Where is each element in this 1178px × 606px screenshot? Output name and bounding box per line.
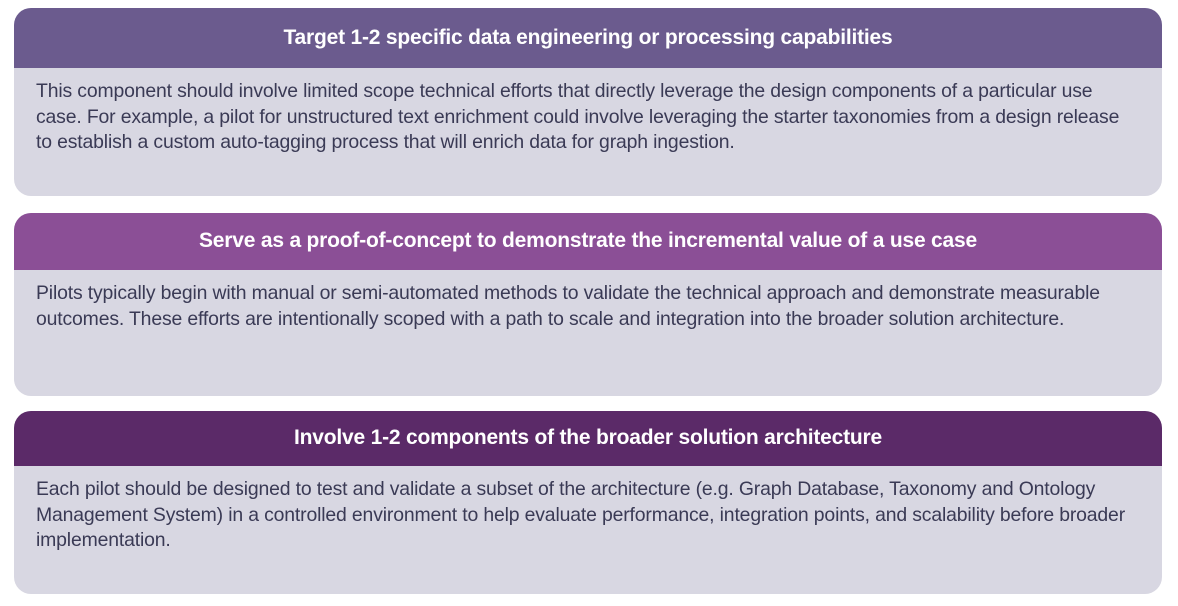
card-header-banner: Serve as a proof-of-concept to demonstra… — [14, 213, 1162, 270]
card-title: Involve 1-2 components of the broader so… — [294, 426, 882, 450]
card-body-text: Each pilot should be designed to test an… — [36, 477, 1140, 554]
pilot-criteria-card: Target 1-2 specific data engineering or … — [14, 8, 1162, 196]
card-title: Target 1-2 specific data engineering or … — [283, 26, 892, 50]
card-header-banner: Target 1-2 specific data engineering or … — [14, 8, 1162, 68]
card-body-text: This component should involve limited sc… — [36, 79, 1140, 156]
card-body: This component should involve limited sc… — [14, 68, 1162, 196]
pilot-criteria-card: Serve as a proof-of-concept to demonstra… — [14, 213, 1162, 396]
pilot-criteria-card: Involve 1-2 components of the broader so… — [14, 411, 1162, 594]
card-body: Each pilot should be designed to test an… — [14, 466, 1162, 594]
card-body: Pilots typically begin with manual or se… — [14, 270, 1162, 396]
card-title: Serve as a proof-of-concept to demonstra… — [199, 229, 977, 253]
card-header-banner: Involve 1-2 components of the broader so… — [14, 411, 1162, 466]
pilot-criteria-slide: Target 1-2 specific data engineering or … — [0, 0, 1178, 606]
card-body-text: Pilots typically begin with manual or se… — [36, 281, 1140, 332]
